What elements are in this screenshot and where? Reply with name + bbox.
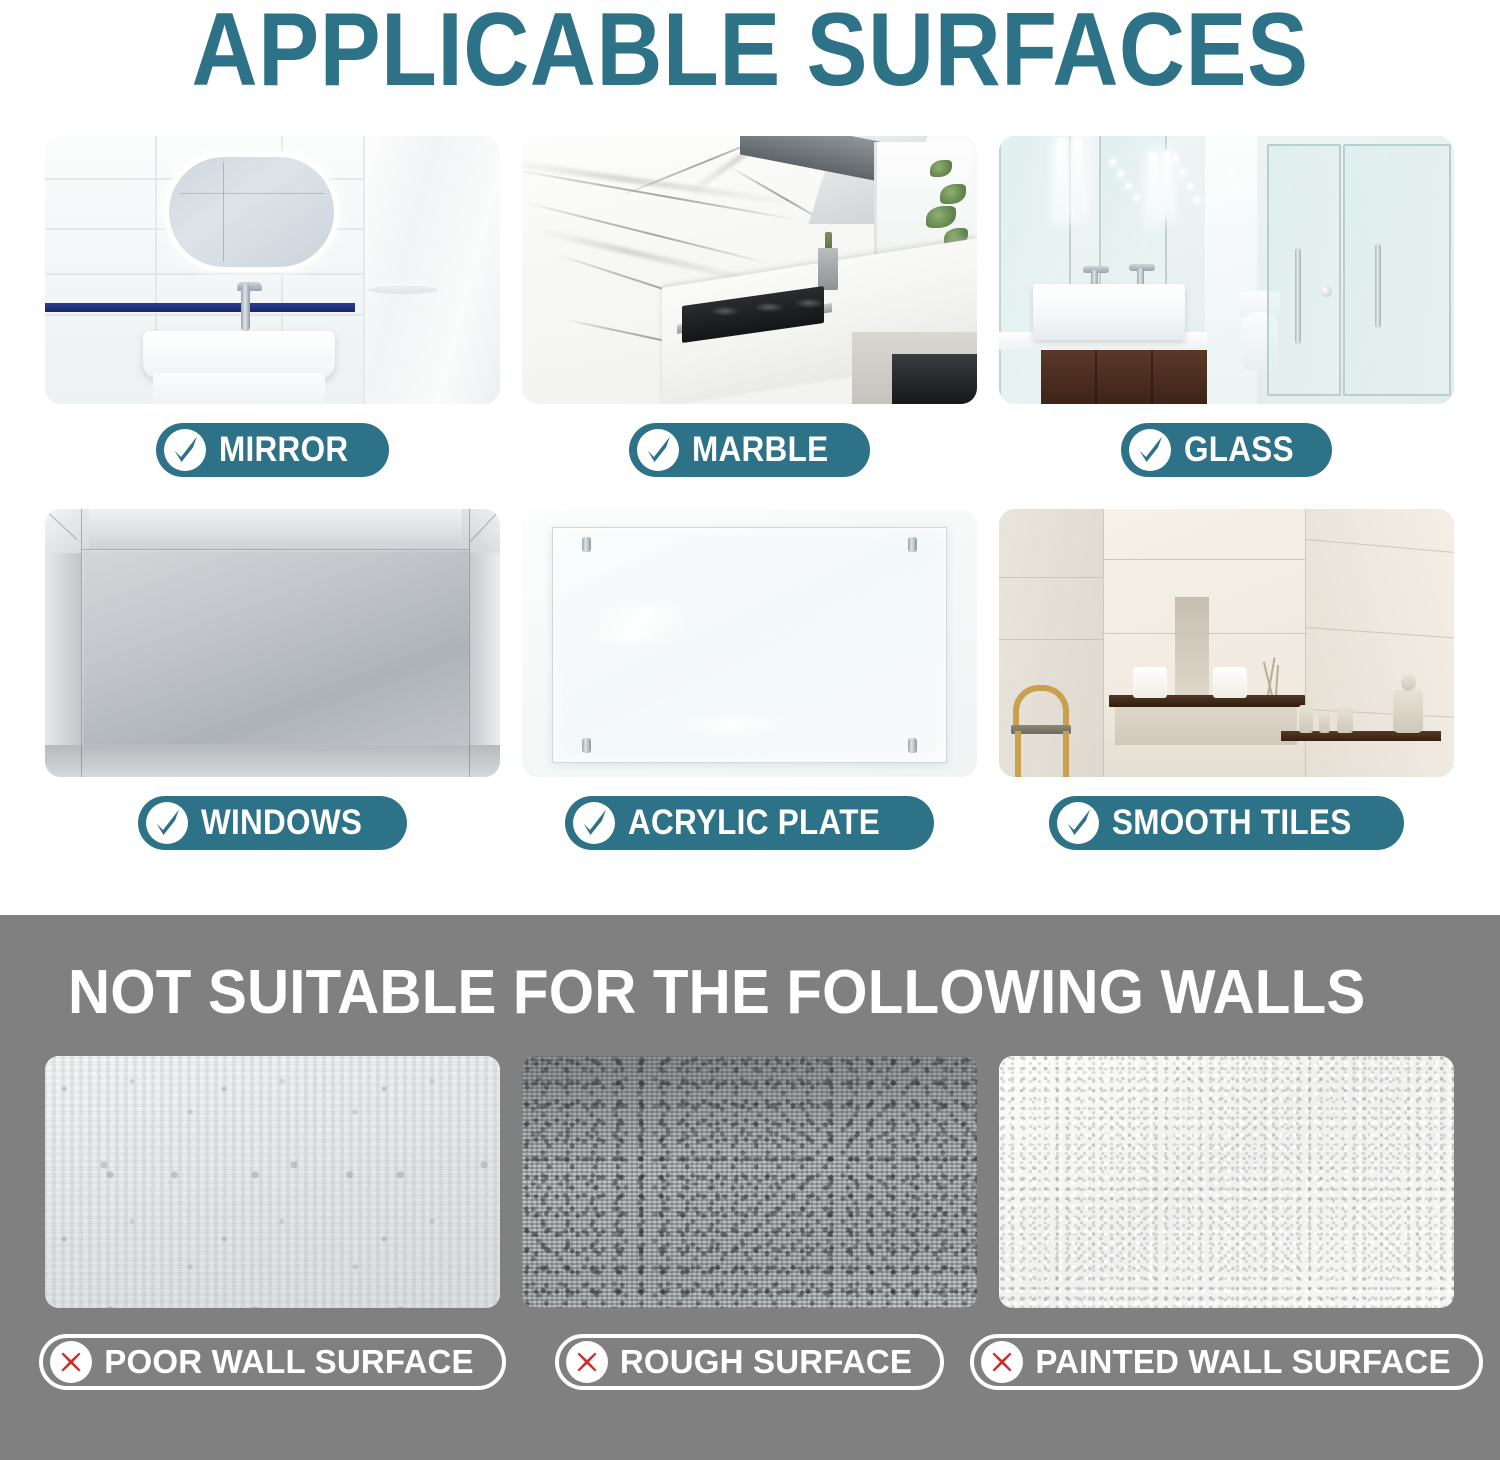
surface-card-smooth-tiles: SMOOTH TILES xyxy=(999,509,1454,850)
badge-smooth-tiles[interactable]: SMOOTH TILES xyxy=(1049,796,1404,850)
surface-card-marble: MARBLE xyxy=(522,136,977,477)
badge-row: MIRROR xyxy=(45,423,500,477)
rough-surface-texture xyxy=(522,1056,977,1308)
check-icon xyxy=(164,429,206,471)
badge-windows[interactable]: WINDOWS xyxy=(138,796,406,850)
badge-label: WINDOWS xyxy=(201,803,362,843)
x-icon xyxy=(50,1341,92,1383)
poor-wall-texture xyxy=(45,1056,500,1308)
surface-card-windows: WINDOWS xyxy=(45,509,500,850)
badge-label: ACRYLIC PLATE xyxy=(628,803,880,843)
bathroom-mirror-photo xyxy=(45,136,500,404)
painted-wall-texture xyxy=(999,1056,1454,1308)
smooth-tiles-photo xyxy=(999,509,1454,777)
check-icon xyxy=(146,802,188,844)
badge-row: GLASS xyxy=(999,423,1454,477)
unsuitable-card-poor-wall: POOR WALL SURFACE xyxy=(45,1056,500,1390)
glass-bathroom-photo xyxy=(999,136,1454,404)
badge-row: ACRYLIC PLATE xyxy=(522,796,977,850)
badge-label: PAINTED WALL SURFACE xyxy=(1035,1343,1450,1381)
badge-label: MARBLE xyxy=(692,430,828,470)
badge-row: WINDOWS xyxy=(45,796,500,850)
badge-row: SMOOTH TILES xyxy=(999,796,1454,850)
check-icon xyxy=(637,429,679,471)
surface-card-glass: GLASS xyxy=(999,136,1454,477)
x-icon xyxy=(566,1341,608,1383)
applicable-surfaces-section: APPLICABLE SURFACES xyxy=(0,0,1500,915)
check-icon xyxy=(1129,429,1171,471)
check-icon xyxy=(573,802,615,844)
badge-poor-wall-surface[interactable]: POOR WALL SURFACE xyxy=(39,1334,505,1390)
badge-acrylic-plate[interactable]: ACRYLIC PLATE xyxy=(565,796,934,850)
badge-row: POOR WALL SURFACE xyxy=(45,1334,500,1390)
badge-label: ROUGH SURFACE xyxy=(620,1343,912,1381)
badge-row: ROUGH SURFACE xyxy=(522,1334,977,1390)
badge-row: MARBLE xyxy=(522,423,977,477)
unsuitable-card-painted-wall: PAINTED WALL SURFACE xyxy=(999,1056,1454,1390)
not-suitable-grid: POOR WALL SURFACE xyxy=(45,1056,1455,1390)
badge-mirror[interactable]: MIRROR xyxy=(156,423,389,477)
applicable-grid: MIRROR xyxy=(45,136,1455,850)
badge-glass[interactable]: GLASS xyxy=(1121,423,1332,477)
not-suitable-section: NOT SUITABLE FOR THE FOLLOWING WALLS POO… xyxy=(0,915,1500,1460)
badge-painted-wall-surface[interactable]: PAINTED WALL SURFACE xyxy=(970,1334,1482,1390)
x-icon xyxy=(981,1341,1023,1383)
surface-card-acrylic: ACRYLIC PLATE xyxy=(522,509,977,850)
window-panel-photo xyxy=(45,509,500,777)
badge-rough-surface[interactable]: ROUGH SURFACE xyxy=(555,1334,944,1390)
acrylic-plate-photo xyxy=(522,509,977,777)
surface-card-mirror: MIRROR xyxy=(45,136,500,477)
unsuitable-card-rough-surface: ROUGH SURFACE xyxy=(522,1056,977,1390)
badge-label: POOR WALL SURFACE xyxy=(104,1343,473,1381)
badge-label: GLASS xyxy=(1184,430,1294,470)
not-suitable-title: NOT SUITABLE FOR THE FOLLOWING WALLS xyxy=(68,957,1365,1028)
check-icon xyxy=(1057,802,1099,844)
page-title: APPLICABLE SURFACES xyxy=(90,0,1410,106)
badge-marble[interactable]: MARBLE xyxy=(629,423,870,477)
infographic-page: APPLICABLE SURFACES xyxy=(0,0,1500,1460)
badge-label: SMOOTH TILES xyxy=(1112,803,1351,843)
badge-label: MIRROR xyxy=(219,430,348,470)
marble-kitchen-photo xyxy=(522,136,977,404)
badge-row: PAINTED WALL SURFACE xyxy=(999,1334,1454,1390)
